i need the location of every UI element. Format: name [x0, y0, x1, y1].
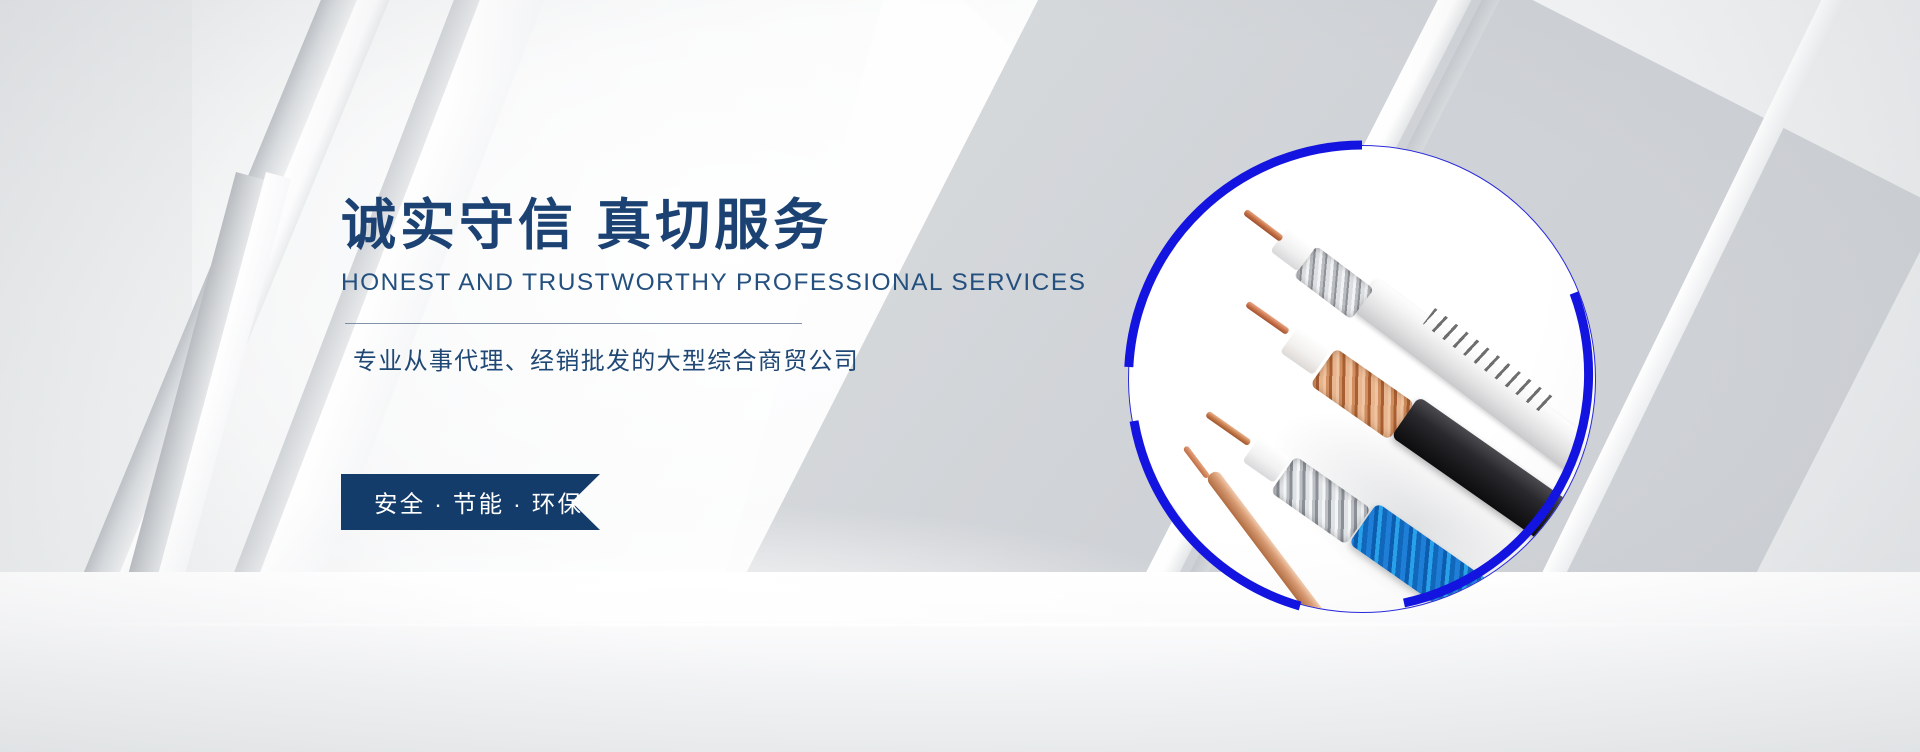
white-cable-copper-core	[1243, 209, 1284, 242]
text-divider-rule	[345, 323, 802, 324]
floor-edge-highlight	[0, 623, 1920, 626]
floor-sheen	[140, 502, 1240, 622]
product-circle-graphic	[1128, 145, 1596, 613]
banner-description: 专业从事代理、经销批发的大型综合商贸公司	[353, 341, 981, 376]
hero-banner: 诚实守信 真切服务 HONEST AND TRUSTWORTHY PROFESS…	[0, 0, 1920, 752]
bare-silver-wire-tip	[1143, 479, 1167, 510]
banner-text-block: 诚实守信 真切服务 HONEST AND TRUSTWORTHY PROFESS…	[341, 196, 981, 376]
feature-ribbon-label: 安全 · 节能 · 环保	[341, 474, 600, 530]
bare-copper-wire-tip	[1183, 445, 1211, 479]
bare-silver-wire	[1159, 501, 1277, 613]
banner-headline: 诚实守信 真切服务	[341, 196, 981, 255]
blue-cable-copper-core	[1205, 411, 1252, 447]
black-cable-copper-core	[1245, 301, 1290, 335]
product-photo-circle	[1128, 145, 1596, 613]
banner-subheadline-english: HONEST AND TRUSTWORTHY PROFESSIONAL SERV…	[341, 269, 981, 297]
